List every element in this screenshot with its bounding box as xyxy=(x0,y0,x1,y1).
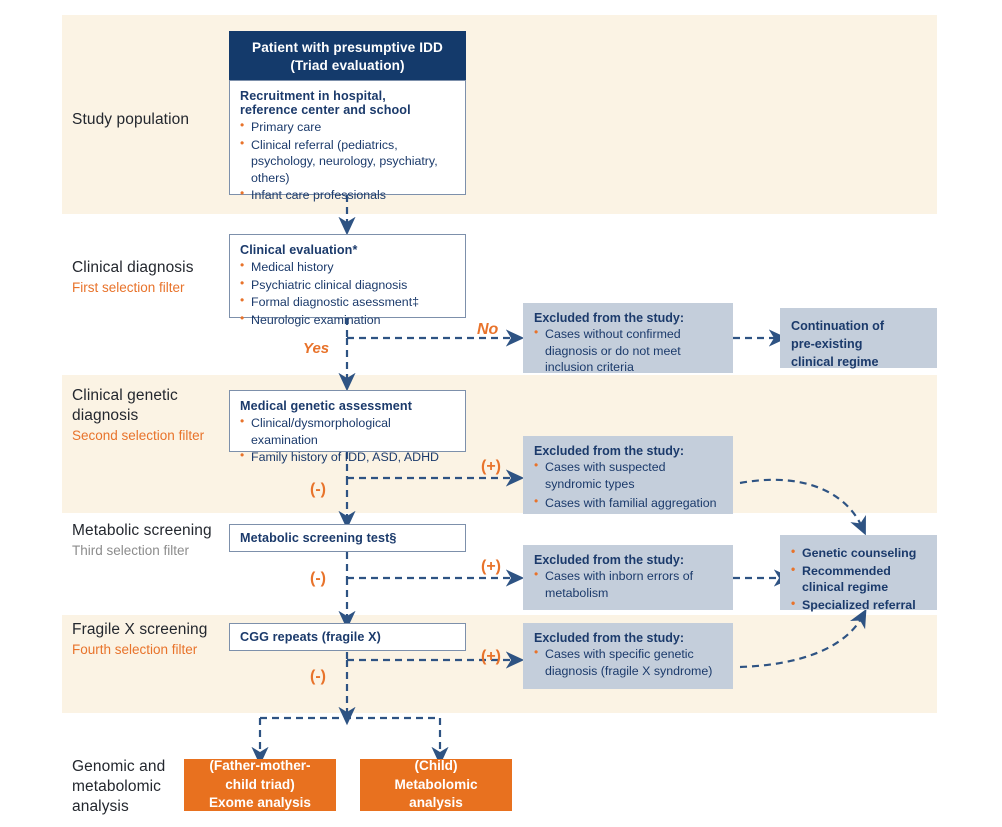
stage-title: Metabolic screening xyxy=(72,521,242,541)
list-item: Cases with suspected syndromic types xyxy=(534,459,722,492)
node-metabolic-screening-test[interactable]: Metabolic screening test§ xyxy=(229,524,466,552)
continuation-line-3: clinical regime xyxy=(791,354,926,372)
node-recruitment[interactable]: Recruitment in hospital, reference cente… xyxy=(229,80,466,195)
node-excluded-from-study-2[interactable]: Excluded from the study: Cases with susp… xyxy=(523,436,733,514)
genetic-assessment-list: Clinical/dysmorphological examination Fa… xyxy=(240,415,455,466)
node-patient-with-presumptive-idd[interactable]: Patient with presumptive IDD (Triad eval… xyxy=(229,31,466,85)
patient-header-line-2: (Triad evaluation) xyxy=(235,57,460,75)
edge-label-minus-3: (-) xyxy=(310,668,326,686)
exome-line-1: (Father-mother- xyxy=(209,757,311,775)
list-item: Cases with familial aggregation xyxy=(534,495,722,512)
stage-subtitle: Fourth selection filter xyxy=(72,641,242,659)
list-item: Primary care xyxy=(240,119,455,136)
stage-subtitle: First selection filter xyxy=(72,279,242,297)
metabolomic-line-3: analysis xyxy=(394,794,477,812)
edge-label-plus-1: (+) xyxy=(481,458,501,476)
list-item: Neurologic examination xyxy=(240,312,455,329)
clinical-evaluation-list: Medical history Psychiatric clinical dia… xyxy=(240,259,455,328)
edge-excluded2-to-outcomes xyxy=(740,480,862,527)
edge-label-plus-3: (+) xyxy=(481,648,501,666)
continuation-line-2: pre-existing xyxy=(791,336,926,354)
node-metabolomic-analysis[interactable]: (Child) Metabolomic analysis xyxy=(360,759,512,811)
node-excluded-from-study-4[interactable]: Excluded from the study: Cases with spec… xyxy=(523,623,733,689)
stage-label-metabolic-screening: Metabolic screening Third selection filt… xyxy=(72,521,242,559)
node-medical-genetic-assessment[interactable]: Medical genetic assessment Clinical/dysm… xyxy=(229,390,466,452)
list-item: Clinical referral (pediatrics, psycholog… xyxy=(240,137,455,187)
excluded-3-heading: Excluded from the study: xyxy=(534,553,722,567)
edge-excluded4-to-outcomes xyxy=(740,617,862,667)
stage-title: Study population xyxy=(72,110,242,130)
stage-subtitle: Third selection filter xyxy=(72,542,242,560)
excluded-4-heading: Excluded from the study: xyxy=(534,631,722,645)
exome-line-3: Exome analysis xyxy=(209,794,311,812)
stage-label-fragile-x-screening: Fragile X screening Fourth selection fil… xyxy=(72,620,242,658)
node-outcomes[interactable]: Genetic counseling Recommended clinical … xyxy=(780,535,937,610)
stage-title: Fragile X screening xyxy=(72,620,242,640)
metabolomic-line-1: (Child) xyxy=(394,757,477,775)
metabolomic-line-2: Metabolomic xyxy=(394,776,477,794)
list-item: Recommended clinical regime xyxy=(791,563,926,596)
stage-subtitle: Second selection filter xyxy=(72,427,242,445)
excluded-1-list: Cases without confirmed diagnosis or do … xyxy=(534,326,722,376)
flowchart-canvas: Study population Clinical diagnosis Firs… xyxy=(0,0,1002,827)
list-item: Cases without confirmed diagnosis or do … xyxy=(534,326,722,376)
edge-label-no: No xyxy=(477,321,498,339)
list-item: Cases with specific genetic diagnosis (f… xyxy=(534,646,722,679)
excluded-2-heading: Excluded from the study: xyxy=(534,444,722,458)
cgg-repeats-heading: CGG repeats (fragile X) xyxy=(240,630,455,644)
list-item: Psychiatric clinical diagnosis xyxy=(240,277,455,294)
node-clinical-evaluation[interactable]: Clinical evaluation* Medical history Psy… xyxy=(229,234,466,318)
excluded-1-heading: Excluded from the study: xyxy=(534,311,722,325)
recruitment-list: Primary care Clinical referral (pediatri… xyxy=(240,119,455,204)
edge-label-minus-2: (-) xyxy=(310,570,326,588)
list-item: Cases with inborn errors of metabolism xyxy=(534,568,722,601)
recruitment-heading-line-2: reference center and school xyxy=(240,103,455,117)
outcomes-list: Genetic counseling Recommended clinical … xyxy=(791,545,926,613)
excluded-3-list: Cases with inborn errors of metabolism xyxy=(534,568,722,601)
edge-label-minus-1: (-) xyxy=(310,481,326,499)
list-item: Specialized referral xyxy=(791,597,926,614)
list-item: Clinical/dysmorphological examination xyxy=(240,415,455,448)
node-exome-analysis[interactable]: (Father-mother- child triad) Exome analy… xyxy=(184,759,336,811)
node-excluded-from-study-3[interactable]: Excluded from the study: Cases with inbo… xyxy=(523,545,733,610)
stage-label-genomic-metabolomic-analysis: Genomic and metabolomic analysis xyxy=(72,757,180,816)
list-item: Formal diagnostic asessment‡ xyxy=(240,294,455,311)
list-item: Medical history xyxy=(240,259,455,276)
clinical-evaluation-heading: Clinical evaluation* xyxy=(240,243,455,257)
list-item: Infant care professionals xyxy=(240,187,455,204)
stage-label-clinical-diagnosis: Clinical diagnosis First selection filte… xyxy=(72,258,242,296)
edge-label-plus-2: (+) xyxy=(481,558,501,576)
list-item: Family history of IDD, ASD, ADHD xyxy=(240,449,455,466)
stage-title: Clinical genetic diagnosis xyxy=(72,386,192,426)
continuation-line-1: Continuation of xyxy=(791,318,926,336)
edge-label-yes: Yes xyxy=(303,340,329,357)
stage-label-study-population: Study population xyxy=(72,110,242,130)
node-excluded-from-study-1[interactable]: Excluded from the study: Cases without c… xyxy=(523,303,733,373)
node-cgg-repeats[interactable]: CGG repeats (fragile X) xyxy=(229,623,466,651)
recruitment-heading-line-1: Recruitment in hospital, xyxy=(240,89,455,103)
node-continuation-pre-existing-regime[interactable]: Continuation of pre-existing clinical re… xyxy=(780,308,937,368)
genetic-assessment-heading: Medical genetic assessment xyxy=(240,399,455,413)
stage-title: Clinical diagnosis xyxy=(72,258,242,278)
excluded-4-list: Cases with specific genetic diagnosis (f… xyxy=(534,646,722,679)
stage-title: Genomic and metabolomic analysis xyxy=(72,757,180,816)
list-item: Genetic counseling xyxy=(791,545,926,562)
stage-label-clinical-genetic-diagnosis: Clinical genetic diagnosis Second select… xyxy=(72,386,242,444)
exome-line-2: child triad) xyxy=(209,776,311,794)
patient-header-line-1: Patient with presumptive IDD xyxy=(235,39,460,57)
excluded-2-list: Cases with suspected syndromic types Cas… xyxy=(534,459,722,512)
metabolic-test-heading: Metabolic screening test§ xyxy=(240,531,455,545)
